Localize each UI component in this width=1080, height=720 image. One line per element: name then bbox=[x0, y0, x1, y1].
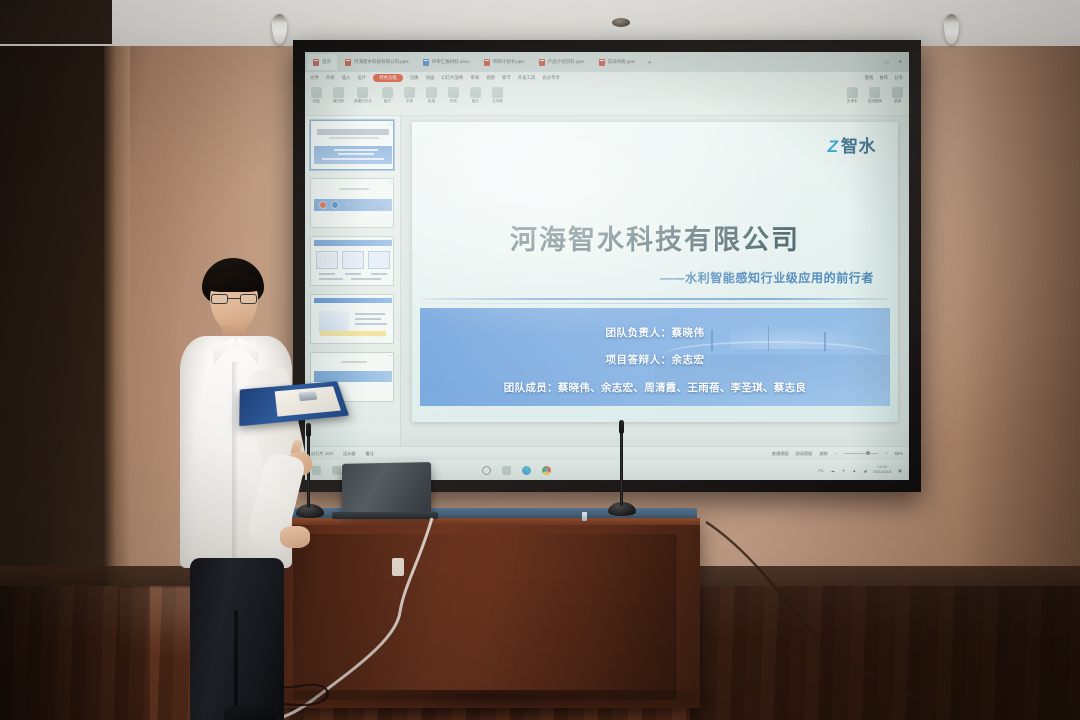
tool-new-slide[interactable]: 新建幻灯片 bbox=[354, 87, 372, 104]
view-normal-button[interactable]: 普通视图 bbox=[772, 451, 789, 457]
chrome-icon[interactable] bbox=[542, 466, 551, 475]
presenter-laptop-base bbox=[332, 512, 438, 519]
tool-shape[interactable]: 形状 bbox=[447, 87, 460, 104]
slide-thumbnail-2[interactable]: 2 bbox=[310, 178, 394, 228]
eyeglasses-icon bbox=[210, 294, 260, 304]
trouser-seam bbox=[234, 610, 238, 718]
app-tab-2[interactable]: 评审汇报材料.docx bbox=[417, 54, 476, 70]
cloud-icon[interactable]: ☁ bbox=[831, 468, 835, 473]
image-icon bbox=[470, 87, 481, 98]
thumb-title-block bbox=[317, 129, 389, 135]
presenter-laptop-lid bbox=[342, 462, 431, 516]
tool-find-replace[interactable]: 查找替换 bbox=[868, 87, 882, 104]
app-tab-1[interactable]: 河海智水科技有限公司.pptx bbox=[339, 54, 415, 70]
thumb-line bbox=[322, 158, 384, 160]
slide-thumbnail-number: 2 bbox=[389, 180, 391, 184]
wps-doc-icon bbox=[313, 59, 319, 66]
tool-label: 粘贴 bbox=[313, 99, 320, 104]
word-icon bbox=[423, 59, 429, 66]
thumb-band-block bbox=[314, 146, 392, 164]
ribbon-share-button[interactable]: 分享 bbox=[894, 75, 903, 81]
app-tab-label: 项目计划书.pptx bbox=[493, 59, 525, 65]
view-slideshow-button[interactable]: 放映 bbox=[819, 451, 827, 457]
wordart-icon bbox=[847, 87, 858, 98]
thumb-content-box bbox=[342, 251, 364, 269]
podium-front-panel bbox=[292, 534, 676, 700]
tool-paste[interactable]: 粘贴 bbox=[310, 87, 323, 104]
zoom-slider[interactable] bbox=[844, 453, 878, 454]
thumb-subtitle-block bbox=[329, 137, 379, 139]
select-icon bbox=[892, 87, 903, 98]
tool-label: 查找替换 bbox=[868, 99, 882, 104]
thumb-line bbox=[345, 273, 361, 275]
thumb-line bbox=[371, 273, 387, 275]
app-tabbar[interactable]: 首页 河海智水科技有限公司.pptx 评审汇报材料.docx 项目计划书.ppt… bbox=[305, 52, 909, 72]
thumb-highlight-block bbox=[320, 331, 386, 336]
glasses-lens-right bbox=[240, 294, 257, 304]
notification-icon[interactable]: ▣ bbox=[898, 468, 902, 473]
thumb-line bbox=[345, 203, 365, 205]
slide-thumbnail-number: 1 bbox=[389, 122, 391, 126]
brand-name: 智水 bbox=[841, 138, 876, 155]
tool-label: 新建幻灯片 bbox=[354, 99, 372, 104]
ppt-icon bbox=[599, 59, 605, 66]
app-tab-label: 答辩终稿.pptx bbox=[608, 59, 636, 65]
floor-shadow-left bbox=[0, 586, 150, 720]
slide-thumbnail-number: 5 bbox=[389, 354, 391, 358]
ceiling-shadow-left bbox=[0, 0, 112, 44]
glasses-bridge bbox=[228, 298, 240, 299]
team-members-line: 团队成员：蔡晓伟、余志宏、周清霞、王雨蓓、李圣琪、蔡志良 bbox=[420, 380, 890, 395]
tool-layout[interactable]: 版式 bbox=[381, 87, 394, 104]
slide-thumbnail-3[interactable]: 3 bbox=[310, 236, 394, 286]
brightness-icon[interactable]: ☀ bbox=[842, 468, 846, 473]
podium-floor-shadow bbox=[250, 690, 720, 720]
ribbon-find-button[interactable]: 查找 bbox=[865, 75, 874, 81]
ppt-icon bbox=[484, 59, 490, 66]
thumb-icon bbox=[319, 201, 327, 209]
ribbon-collab-button[interactable]: 协作 bbox=[879, 75, 888, 81]
tool-label: 版式 bbox=[384, 99, 391, 104]
taskbar-clock[interactable]: 14:32 2021/5/18 bbox=[873, 465, 891, 474]
menu-item-3[interactable]: 设计 bbox=[357, 75, 366, 81]
taskbar-tray[interactable]: PC ☁ ☀ ▲ ◢ 14:32 2021/5/18 ▣ bbox=[818, 465, 902, 474]
find-replace-icon bbox=[869, 87, 880, 98]
menu-item-11[interactable]: 会员专享 bbox=[542, 75, 560, 81]
app-tab-label: 首页 bbox=[322, 59, 331, 65]
app-ribbon[interactable]: 文件 开始 插入 设计 特色功能 切换 动画 幻灯片放映 审阅 视图 章节 开发… bbox=[305, 72, 909, 116]
thumb-line bbox=[334, 149, 378, 151]
slide-subtitle: ——水利智能感知行业级应用的前行者 bbox=[660, 269, 874, 286]
volume-icon[interactable]: ◢ bbox=[863, 468, 866, 473]
tool-label: 字体 bbox=[406, 99, 413, 104]
menu-item-6[interactable]: 幻灯片放映 bbox=[441, 75, 463, 81]
app-workspace: 1 2 bbox=[305, 116, 909, 446]
slide-divider bbox=[422, 298, 888, 300]
app-tab-label: 产品介绍资料.pptx bbox=[548, 59, 585, 65]
zoom-level: 68% bbox=[895, 451, 903, 456]
minimize-icon[interactable]: ▭ bbox=[884, 59, 890, 66]
menu-item-1[interactable]: 开始 bbox=[326, 75, 335, 81]
slide-info-band: 团队负责人：蔡晓伟 项目答辩人：余志宏 团队成员：蔡晓伟、余志宏、周清霞、王雨蓓… bbox=[420, 308, 890, 406]
app-tab-0[interactable]: 首页 bbox=[307, 54, 337, 70]
tool-label: 文本框 bbox=[492, 99, 503, 104]
thumb-header-block bbox=[314, 240, 392, 246]
shirt-placket bbox=[232, 362, 237, 562]
edge-icon[interactable] bbox=[522, 466, 531, 475]
thumb-band-block bbox=[314, 371, 392, 382]
thumb-subtitle-block bbox=[339, 188, 369, 190]
thumb-line bbox=[355, 318, 381, 320]
paste-icon bbox=[311, 87, 322, 98]
font-icon bbox=[404, 87, 415, 98]
search-icon[interactable] bbox=[332, 466, 341, 475]
glasses-lens-left bbox=[211, 294, 228, 304]
clock-date: 2021/5/18 bbox=[873, 469, 891, 474]
projection-screen-surface[interactable]: 首页 河海智水科技有限公司.pptx 评审汇报材料.docx 项目计划书.ppt… bbox=[305, 52, 909, 480]
thumb-content-box bbox=[368, 251, 390, 269]
room-wall-left-panel bbox=[104, 44, 130, 600]
tool-paragraph[interactable]: 段落 bbox=[425, 87, 438, 104]
tool-format-brush[interactable]: 格式刷 bbox=[332, 87, 345, 104]
thumb-line bbox=[369, 207, 387, 209]
status-designer-button[interactable]: 设计器 bbox=[343, 451, 356, 457]
room-wall-shadow bbox=[960, 42, 1080, 622]
cortana-circle-icon[interactable] bbox=[482, 466, 491, 475]
app-tab-4[interactable]: 产品介绍资料.pptx bbox=[533, 54, 591, 70]
thumb-line bbox=[351, 278, 381, 280]
ribbon-right-actions[interactable]: 查找 协作 分享 bbox=[865, 75, 909, 81]
textbox-icon bbox=[492, 87, 503, 98]
user-avatar-icon[interactable]: ◕ bbox=[898, 59, 902, 66]
microphone-neck bbox=[620, 428, 623, 506]
tool-label: 段落 bbox=[428, 99, 435, 104]
presenter-speaking bbox=[168, 258, 318, 720]
ppt-icon bbox=[345, 59, 351, 66]
task-view-icon[interactable] bbox=[502, 466, 511, 475]
menu-item-9[interactable]: 章节 bbox=[502, 75, 511, 81]
tool-label: 选择 bbox=[894, 99, 901, 104]
tool-textbox[interactable]: 文本框 bbox=[491, 87, 504, 104]
format-brush-icon bbox=[333, 87, 344, 98]
taskbar-pinned-apps[interactable] bbox=[482, 466, 551, 475]
menu-item-10[interactable]: 开发工具 bbox=[518, 75, 536, 81]
network-icon[interactable]: ▲ bbox=[852, 468, 856, 473]
presentation-app-window[interactable]: 首页 河海智水科技有限公司.pptx 评审汇报材料.docx 项目计划书.ppt… bbox=[305, 52, 909, 480]
floor-shadow-right bbox=[690, 586, 1080, 720]
paragraph-icon bbox=[426, 87, 437, 98]
presenter-shoe bbox=[224, 706, 276, 720]
thumb-line bbox=[319, 278, 343, 280]
tool-label: 艺术字 bbox=[847, 99, 858, 104]
microphone-head bbox=[619, 420, 624, 434]
presenter-hand-holding bbox=[280, 526, 310, 548]
brand-mark-icon: Z bbox=[828, 138, 838, 155]
app-tab-3[interactable]: 项目计划书.pptx bbox=[478, 54, 531, 70]
slide-divider-secondary bbox=[426, 303, 884, 304]
current-slide[interactable]: Z 智水 河海智水科技有限公司 ——水利智能感知行业级应用的前行者 bbox=[412, 122, 898, 422]
status-notes-button[interactable]: 备注 bbox=[365, 451, 373, 457]
presenter-line: 项目答辩人：余志宏 bbox=[420, 352, 890, 367]
desk-small-item bbox=[582, 512, 587, 521]
menu-item-4[interactable]: 切换 bbox=[410, 75, 419, 81]
menu-item-0[interactable]: 文件 bbox=[310, 75, 319, 81]
view-reading-button[interactable]: 阅读视图 bbox=[796, 451, 813, 457]
slide-thumbnail-1[interactable]: 1 bbox=[310, 120, 394, 170]
menu-item-5[interactable]: 动画 bbox=[426, 75, 435, 81]
thumb-line bbox=[355, 313, 385, 315]
ribbon-menu-row[interactable]: 文件 开始 插入 设计 特色功能 切换 动画 幻灯片放映 审阅 视图 章节 开发… bbox=[305, 72, 909, 84]
tool-image[interactable]: 图片 bbox=[469, 87, 482, 104]
photo-scene: 首页 河海智水科技有限公司.pptx 评审汇报材料.docx 项目计划书.ppt… bbox=[0, 0, 1080, 720]
new-tab-button[interactable]: + bbox=[647, 58, 652, 67]
tool-label: 图片 bbox=[472, 99, 479, 104]
window-controls[interactable]: ▭ ◕ bbox=[884, 59, 909, 66]
team-leader-line: 团队负责人：蔡晓伟 bbox=[420, 325, 890, 340]
brand-logo: Z 智水 bbox=[828, 138, 876, 155]
thumb-chart-block bbox=[319, 311, 349, 333]
thumb-subtitle-block bbox=[341, 361, 367, 363]
menu-item-highlight[interactable]: 特色功能 bbox=[373, 74, 403, 82]
podium-front-edge bbox=[268, 518, 700, 525]
thumb-icon bbox=[331, 201, 339, 209]
status-right-group[interactable]: 普通视图 阅读视图 放映 − + 68% bbox=[772, 451, 903, 457]
shape-icon bbox=[448, 87, 459, 98]
menu-item-7[interactable]: 审阅 bbox=[470, 75, 479, 81]
ceiling-vent-icon bbox=[612, 18, 630, 27]
menu-item-8[interactable]: 视图 bbox=[486, 75, 495, 81]
thumb-line bbox=[338, 153, 374, 155]
app-statusbar[interactable]: 幻灯片 1/24 设计器 备注 普通视图 阅读视图 放映 − + 68% bbox=[305, 446, 909, 460]
tool-font[interactable]: 字体 bbox=[403, 87, 416, 104]
ime-pc-icon[interactable]: PC bbox=[818, 468, 824, 473]
app-tab-label: 评审汇报材料.docx bbox=[432, 59, 470, 65]
tool-wordart[interactable]: 艺术字 bbox=[846, 87, 859, 104]
slide-editing-stage[interactable]: Z 智水 河海智水科技有限公司 ——水利智能感知行业级应用的前行者 bbox=[401, 116, 909, 446]
tool-label: 形状 bbox=[450, 99, 457, 104]
ribbon-tool-row[interactable]: 粘贴 格式刷 新建幻灯片 版式 bbox=[305, 85, 909, 116]
slide-thumbnail-4[interactable]: 4 bbox=[310, 294, 394, 344]
app-tab-5[interactable]: 答辩终稿.pptx bbox=[593, 54, 642, 70]
new-slide-icon bbox=[357, 87, 368, 98]
zoom-out-button[interactable]: − bbox=[835, 451, 837, 456]
zoom-in-button[interactable]: + bbox=[885, 451, 887, 456]
menu-item-2[interactable]: 插入 bbox=[342, 75, 351, 81]
app-tab-label: 河海智水科技有限公司.pptx bbox=[354, 59, 409, 65]
ppt-icon bbox=[539, 59, 545, 66]
room-wall-left-dark bbox=[0, 42, 120, 602]
thumb-line bbox=[319, 273, 335, 275]
tool-label: 格式刷 bbox=[333, 99, 344, 104]
thumb-header-block bbox=[314, 298, 392, 303]
slide-title: 河海智水科技有限公司 bbox=[412, 218, 898, 257]
thumb-line bbox=[355, 323, 387, 325]
thumb-content-box bbox=[316, 251, 338, 269]
tool-select[interactable]: 选择 bbox=[891, 87, 904, 104]
layout-icon bbox=[382, 87, 393, 98]
